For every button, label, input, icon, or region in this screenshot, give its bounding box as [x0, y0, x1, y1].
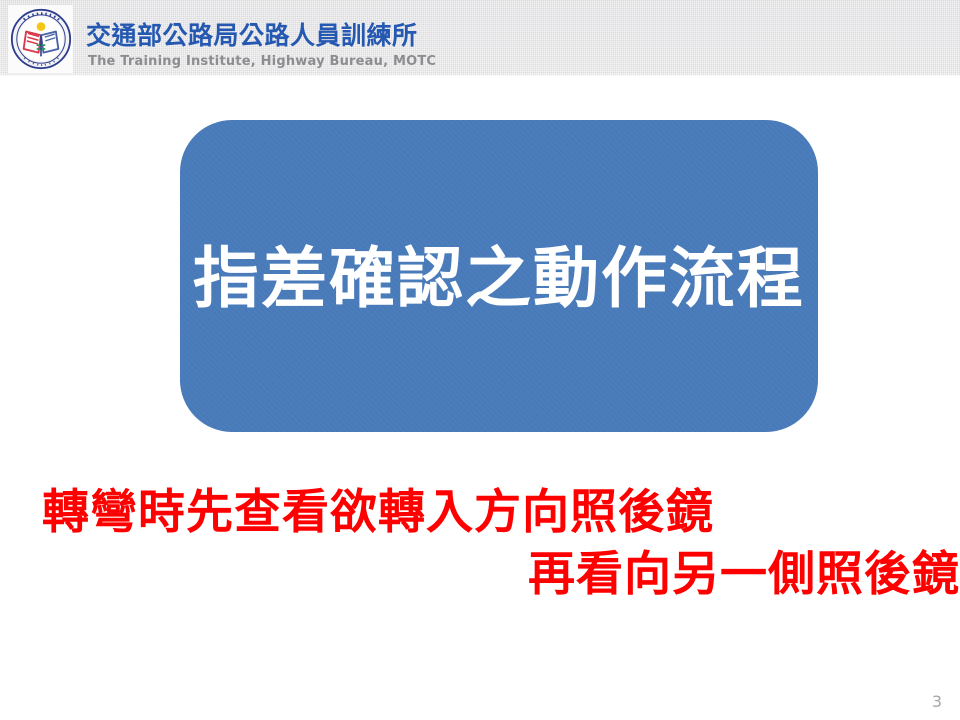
slide-canvas: 交通部公路局公路人員訓練所 The Training Institute, Hi… — [0, 0, 960, 720]
caption-line-2: 再看向另一側照後鏡 — [0, 549, 960, 601]
caption-line-1: 轉彎時先查看欲轉入方向照後鏡 — [0, 487, 960, 539]
institute-logo — [8, 5, 73, 73]
organization-name: 交通部公路局公路人員訓練所 — [86, 22, 418, 50]
training-institute-emblem-icon — [10, 8, 72, 70]
slide-title: 指差確認之動作流程 — [193, 242, 805, 316]
organization-subtitle: The Training Institute, Highway Bureau, … — [88, 54, 436, 70]
title-callout-box: 指差確認之動作流程 — [180, 120, 818, 432]
page-number: 3 — [932, 692, 942, 712]
